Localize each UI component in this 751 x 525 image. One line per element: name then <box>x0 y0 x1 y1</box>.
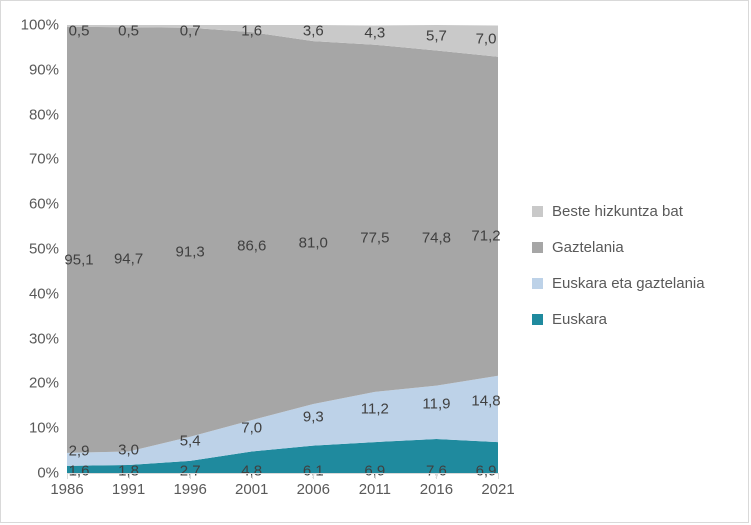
legend-item-label: Gaztelania <box>552 240 624 255</box>
legend-item-gaztelania[interactable]: Gaztelania <box>532 229 742 265</box>
data-label: 71,2 <box>471 229 500 244</box>
data-label: 2,9 <box>69 444 90 459</box>
legend-swatch-icon <box>532 278 543 289</box>
data-label: 7,0 <box>241 420 262 435</box>
x-axis-tick-label: 2011 <box>359 482 391 497</box>
data-label: 74,8 <box>422 231 451 246</box>
data-label: 3,6 <box>303 24 324 39</box>
data-label: 9,3 <box>303 409 324 424</box>
data-label: 4,3 <box>364 25 385 40</box>
data-label: 95,1 <box>64 252 93 267</box>
x-axis-tick-mark <box>436 474 437 479</box>
data-label: 0,5 <box>118 24 139 39</box>
data-label: 5,7 <box>426 28 447 43</box>
data-label: 1,6 <box>241 24 262 39</box>
legend-item-label: Beste hizkuntza bat <box>552 204 683 219</box>
x-axis-tick-mark <box>67 474 68 479</box>
data-label: 81,0 <box>299 235 328 250</box>
x-axis-tick-label: 2021 <box>481 482 514 497</box>
x-axis-tick-label: 2001 <box>235 482 268 497</box>
x-axis-tick-mark <box>498 474 499 479</box>
legend-item-label: Euskara <box>552 312 607 327</box>
data-label: 86,6 <box>237 239 266 254</box>
data-label: 11,9 <box>422 397 450 412</box>
x-axis-tick-mark <box>252 474 253 479</box>
x-axis-tick-mark <box>313 474 314 479</box>
legend-item-label: Euskara eta gaztelania <box>552 276 705 291</box>
legend-swatch-icon <box>532 242 543 253</box>
legend-item-beste-hizkuntza-bat[interactable]: Beste hizkuntza bat <box>532 193 742 229</box>
legend-swatch-icon <box>532 314 543 325</box>
x-axis-tick-label: 1986 <box>50 482 83 497</box>
data-label: 77,5 <box>360 231 389 246</box>
x-axis-tick-mark <box>190 474 191 479</box>
chart-legend: Beste hizkuntza batGaztelaniaEuskara eta… <box>532 193 742 337</box>
data-label: 0,5 <box>69 24 90 39</box>
x-axis: 19861991199620012006201120162021 <box>67 474 498 514</box>
x-axis-tick-label: 1996 <box>173 482 206 497</box>
data-label: 94,7 <box>114 252 143 267</box>
x-axis-tick-label: 2006 <box>297 482 330 497</box>
x-axis-tick-mark <box>129 474 130 479</box>
data-label: 5,4 <box>180 433 201 448</box>
x-axis-tick-label: 2016 <box>420 482 453 497</box>
data-label: 3,0 <box>118 443 139 458</box>
legend-item-euskara[interactable]: Euskara <box>532 301 742 337</box>
x-axis-tick-mark <box>375 474 376 479</box>
data-label: 0,7 <box>180 24 201 39</box>
data-label: 7,0 <box>476 31 497 46</box>
data-label: 11,2 <box>361 402 389 417</box>
legend-swatch-icon <box>532 206 543 217</box>
chart-container: 0%10%20%30%40%50%60%70%80%90%100% 1,61,8… <box>0 0 749 523</box>
legend-item-euskara-eta-gaztelania[interactable]: Euskara eta gaztelania <box>532 265 742 301</box>
data-label: 91,3 <box>176 245 205 260</box>
x-axis-tick-label: 1991 <box>112 482 145 497</box>
data-label: 14,8 <box>471 393 500 408</box>
